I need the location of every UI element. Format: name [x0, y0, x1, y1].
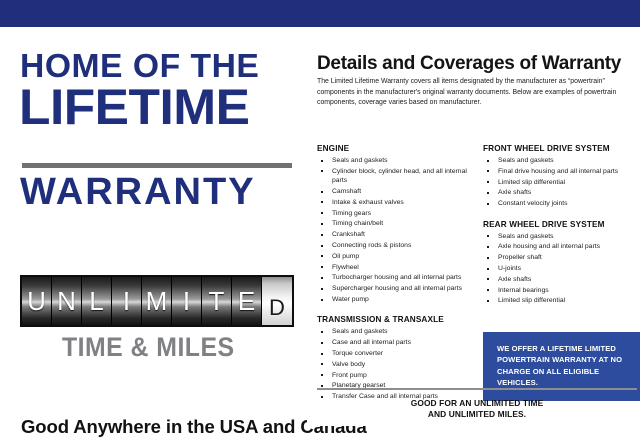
details-title: Details and Coverages of Warranty	[317, 53, 621, 75]
odometer-digit-3: I	[112, 277, 142, 325]
footer-divider-rule	[317, 388, 637, 390]
coverage-item: Flywheel	[317, 263, 482, 272]
coverage-item: Water pump	[317, 295, 482, 304]
coverage-item: Cylinder block, cylinder head, and all i…	[317, 167, 482, 186]
coverage-section: FRONT WHEEL DRIVE SYSTEMSeals and gasket…	[483, 144, 638, 209]
details-panel: Details and Coverages of Warranty The Li…	[307, 27, 640, 426]
coverage-item: Crankshaft	[317, 230, 482, 239]
hero-headline-line1: HOME OF THE	[20, 49, 297, 83]
hero-headline-line2: LIFETIME	[19, 82, 307, 132]
coverage-section-title: REAR WHEEL DRIVE SYSTEM	[483, 220, 638, 229]
coverage-item: Connecting rods & pistons	[317, 241, 482, 250]
coverage-item: Seals and gaskets	[483, 156, 638, 165]
coverage-item: Axle shafts	[483, 275, 638, 284]
coverage-item: Turbocharger housing and all internal pa…	[317, 273, 482, 282]
odometer-digit-5: I	[172, 277, 202, 325]
coverage-column-right: FRONT WHEEL DRIVE SYSTEMSeals and gasket…	[483, 144, 638, 317]
coverage-item: Oil pump	[317, 252, 482, 261]
coverage-item: Propeller shaft	[483, 253, 638, 262]
hero-panel: HOME OF THE LIFETIME WARRANTY UNLIMITED …	[0, 27, 307, 426]
coverage-item: Valve body	[317, 360, 482, 369]
coverage-item: Axle shafts	[483, 188, 638, 197]
coverage-item-list: Seals and gasketsCase and all internal p…	[317, 327, 482, 401]
coverage-item: Limited slip differential	[483, 296, 638, 305]
coverage-item: Intake & exhaust valves	[317, 198, 482, 207]
odometer-digit-2: L	[82, 277, 112, 325]
coverage-item: Case and all internal parts	[317, 338, 482, 347]
odometer-digit-4: M	[142, 277, 172, 325]
coverage-item: U-joints	[483, 264, 638, 273]
coverage-item: Seals and gaskets	[317, 327, 482, 336]
coverage-item: Seals and gaskets	[317, 156, 482, 165]
coverage-column-left: ENGINESeals and gasketsCylinder block, c…	[317, 144, 482, 413]
coverage-section: ENGINESeals and gasketsCylinder block, c…	[317, 144, 482, 304]
top-accent-bar	[0, 0, 640, 27]
odometer-digit-6: T	[202, 277, 232, 325]
coverage-section-title: FRONT WHEEL DRIVE SYSTEM	[483, 144, 638, 153]
coverage-item: Front pump	[317, 371, 482, 380]
offer-callout-text: WE OFFER A LIFETIME LIMITED POWERTRAIN W…	[497, 343, 629, 389]
coverage-section-title: ENGINE	[317, 144, 482, 153]
coverage-item: Axle housing and all internal parts	[483, 242, 638, 251]
coverage-item-list: Seals and gasketsFinal drive housing and…	[483, 156, 638, 209]
odometer-subtitle: TIME & MILES	[62, 332, 235, 363]
details-intro-paragraph: The Limited Lifetime Warranty covers all…	[317, 77, 637, 109]
coverage-item-list: Seals and gasketsAxle housing and all in…	[483, 232, 638, 306]
coverage-item: Limited slip differential	[483, 178, 638, 187]
coverage-item: Camshaft	[317, 187, 482, 196]
coverage-item: Internal bearings	[483, 286, 638, 295]
odometer-digit-0: U	[22, 277, 52, 325]
coverage-section-title: TRANSMISSION & TRANSAXLE	[317, 315, 482, 324]
coverage-item: Final drive housing and all internal par…	[483, 167, 638, 176]
hero-headline-line3: WARRANTY	[20, 171, 300, 213]
coverage-item: Supercharger housing and all internal pa…	[317, 284, 482, 293]
warranty-flyer: HOME OF THE LIFETIME WARRANTY UNLIMITED …	[0, 0, 640, 426]
odometer-digit-1: N	[52, 277, 82, 325]
odometer-digit-8: D	[262, 277, 292, 325]
coverage-item: Seals and gaskets	[483, 232, 638, 241]
hero-divider-rule	[22, 163, 292, 168]
odometer-digit-7: E	[232, 277, 262, 325]
footer-note: GOOD FOR AN UNLIMITED TIME AND UNLIMITED…	[317, 398, 637, 420]
offer-callout-box: WE OFFER A LIFETIME LIMITED POWERTRAIN W…	[483, 332, 640, 401]
odometer-graphic: UNLIMITED	[20, 275, 294, 327]
coverage-item: Torque converter	[317, 349, 482, 358]
coverage-item: Constant velocity joints	[483, 199, 638, 208]
coverage-item: Timing chain/belt	[317, 219, 482, 228]
coverage-item: Timing gears	[317, 209, 482, 218]
coverage-item-list: Seals and gasketsCylinder block, cylinde…	[317, 156, 482, 304]
coverage-section: REAR WHEEL DRIVE SYSTEMSeals and gaskets…	[483, 220, 638, 306]
